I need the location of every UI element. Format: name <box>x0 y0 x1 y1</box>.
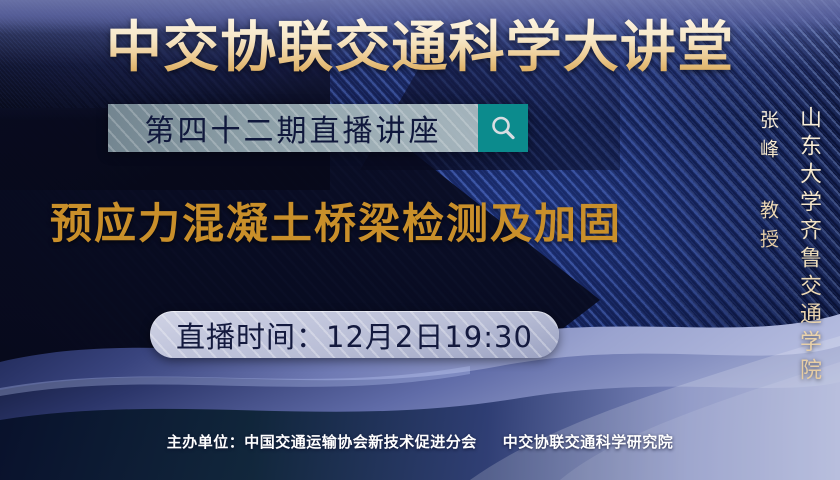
poster-title: 中交协联交通科学大讲堂 <box>0 16 840 78</box>
series-label: 第四十二期直播讲座 <box>145 106 442 150</box>
live-time-label: 直播时间：12月2日19:30 <box>176 314 533 356</box>
live-lecture-poster: 中交协联交通科学大讲堂 第四十二期直播讲座 预应力混凝土桥梁检测及加固 直播时间… <box>0 0 840 480</box>
search-icon[interactable] <box>478 104 528 152</box>
series-bar-body: 第四十二期直播讲座 <box>108 104 478 152</box>
series-bar: 第四十二期直播讲座 <box>108 104 528 152</box>
speaker-portrait <box>556 118 756 418</box>
speaker-organization: 山东大学齐鲁交通学院 <box>792 106 824 386</box>
lecture-topic: 预应力混凝土桥梁检测及加固 <box>50 190 622 251</box>
footer-organizers: 主办单位：中国交通运输协会新技术促进分会中交协联交通科学研究院 <box>0 431 840 452</box>
footer-organizer-secondary: 中交协联交通科学研究院 <box>503 433 674 451</box>
live-time-badge: 直播时间：12月2日19:30 <box>150 311 559 358</box>
footer-organizer-primary: 主办单位：中国交通运输协会新技术促进分会 <box>167 433 477 451</box>
speaker-name-title: 张峰 教授 <box>755 110 782 258</box>
